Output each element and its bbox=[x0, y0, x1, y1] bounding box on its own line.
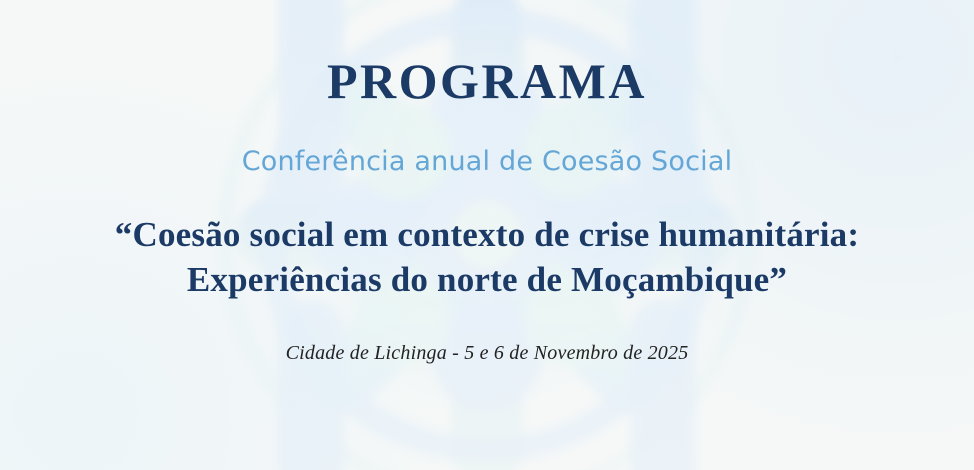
theme-line-1: “Coesão social em contexto de crise huma… bbox=[40, 213, 934, 258]
conference-theme: “Coesão social em contexto de crise huma… bbox=[40, 213, 934, 303]
programme-poster: PROGRAMA Conferência anual de Coesão Soc… bbox=[0, 0, 974, 470]
event-location-and-dates: Cidade de Lichinga - 5 e 6 de Novembro d… bbox=[40, 343, 934, 363]
poster-content: PROGRAMA Conferência anual de Coesão Soc… bbox=[0, 0, 974, 470]
conference-subtitle: Conferência anual de Coesão Social bbox=[40, 148, 934, 175]
theme-line-2: Experiências do norte de Moçambique” bbox=[40, 258, 934, 303]
page-title: PROGRAMA bbox=[40, 56, 934, 106]
